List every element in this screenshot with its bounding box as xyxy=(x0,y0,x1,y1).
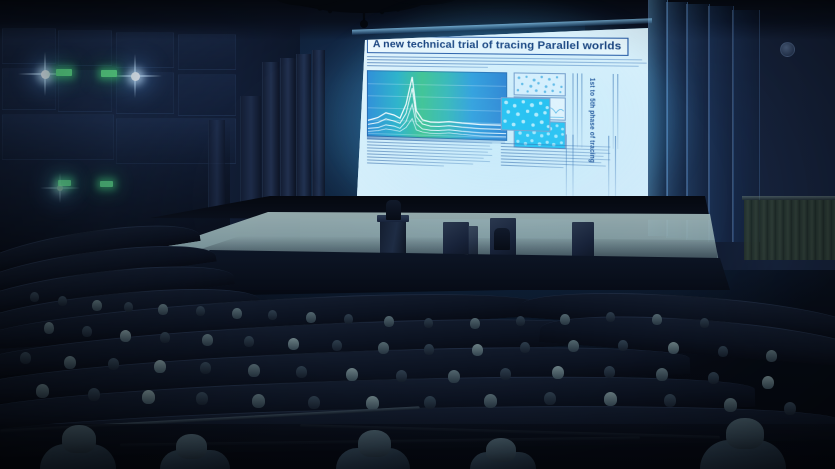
left-paragraph xyxy=(367,136,492,170)
spectrum-traces xyxy=(368,72,506,141)
display-monitor[interactable] xyxy=(443,222,469,256)
seated-figure-stage xyxy=(494,228,510,250)
phase-bar-9 xyxy=(615,136,616,198)
column-left-4 xyxy=(312,50,325,206)
exit-sign-3 xyxy=(58,180,71,186)
wall-fixture-icon xyxy=(780,42,795,57)
foreground-head xyxy=(358,430,391,457)
exit-sign-1 xyxy=(56,69,72,76)
exit-sign-4 xyxy=(100,181,113,187)
phase-bar-2 xyxy=(577,74,578,148)
slide-abstract xyxy=(367,56,647,70)
panel-board-far-right xyxy=(572,222,594,258)
phase-bar-6 xyxy=(566,134,567,195)
column-left-1 xyxy=(262,62,279,212)
phase-bar-4 xyxy=(613,74,614,149)
phase-bar-3 xyxy=(581,74,582,148)
column-left-5 xyxy=(240,96,261,210)
foreground-head xyxy=(176,434,207,459)
lectern[interactable] xyxy=(380,219,406,257)
slide-title: A new technical trial of tracing Paralle… xyxy=(367,36,628,56)
micrograph-top xyxy=(514,73,566,97)
right-paragraph xyxy=(501,141,611,172)
phase-bar-7 xyxy=(572,135,573,196)
lecture-hall-scene: A new technical trial of tracing Paralle… xyxy=(0,0,835,469)
presentation-slide: A new technical trial of tracing Paralle… xyxy=(357,28,648,208)
phase-bar-5 xyxy=(617,74,618,149)
micrograph-inset xyxy=(501,97,551,132)
presenter xyxy=(386,200,401,220)
pillar-4 xyxy=(708,6,734,242)
projection-screen: A new technical trial of tracing Paralle… xyxy=(357,28,648,208)
phase-bar-8 xyxy=(608,136,609,198)
exit-sign-2 xyxy=(101,70,117,77)
column-left-6 xyxy=(208,120,225,212)
foreground-head xyxy=(726,418,764,449)
spectrum-chart xyxy=(367,71,507,142)
stage-curtain xyxy=(744,200,835,260)
column-left-3 xyxy=(296,54,311,208)
column-left-2 xyxy=(280,58,295,210)
foreground-head xyxy=(486,438,516,462)
monitor-side-panel xyxy=(468,226,478,256)
foreground-head xyxy=(62,425,96,453)
